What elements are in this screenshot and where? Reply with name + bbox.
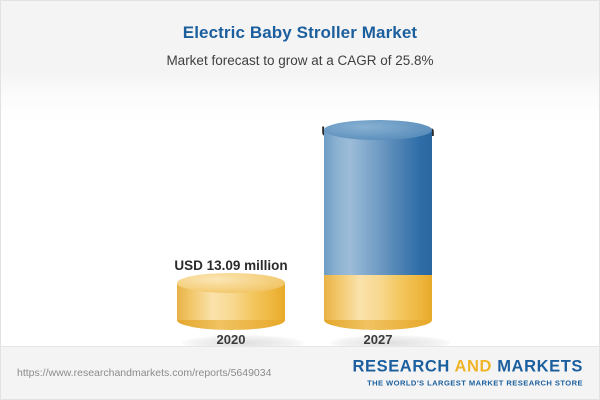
category-label-2027: 2027 [364, 332, 393, 347]
cylinder-top-ellipse-2027 [324, 120, 432, 140]
cylinder-bar-2027[interactable] [324, 120, 432, 275]
market-infographic: Electric Baby Stroller Market Market for… [0, 0, 600, 400]
brand-word-research: RESEARCH [352, 357, 449, 375]
bar-value-label-2020: USD 13.09 million [174, 258, 287, 273]
brand-tagline: THE WORLD'S LARGEST MARKET RESEARCH STOR… [352, 379, 583, 388]
chart-subtitle: Market forecast to grow at a CAGR of 25.… [1, 43, 599, 68]
footer-bar: https://www.researchandmarkets.com/repor… [1, 346, 599, 399]
brand-logo[interactable]: RESEARCH AND MARKETS THE WORLD'S LARGEST… [352, 358, 583, 387]
cylinder-body-2027 [324, 130, 432, 275]
cylinder-bar-2020[interactable] [177, 273, 285, 320]
report-url-link[interactable]: https://www.researchandmarkets.com/repor… [17, 367, 271, 379]
brand-word-and: AND [454, 357, 492, 375]
cylinder-base-2027[interactable] [324, 275, 432, 320]
chart-header: Electric Baby Stroller Market Market for… [1, 1, 599, 87]
cylinder-base-body-2027 [324, 275, 432, 320]
brand-name: RESEARCH AND MARKETS [352, 358, 583, 375]
brand-word-markets: MARKETS [497, 357, 583, 375]
cylinder-top-ellipse-2020 [177, 273, 285, 293]
category-label-2020: 2020 [217, 332, 246, 347]
chart-plot-area: USD 13.09 million 2020 USD 65.33 million [1, 87, 599, 347]
chart-title: Electric Baby Stroller Market [1, 1, 599, 43]
